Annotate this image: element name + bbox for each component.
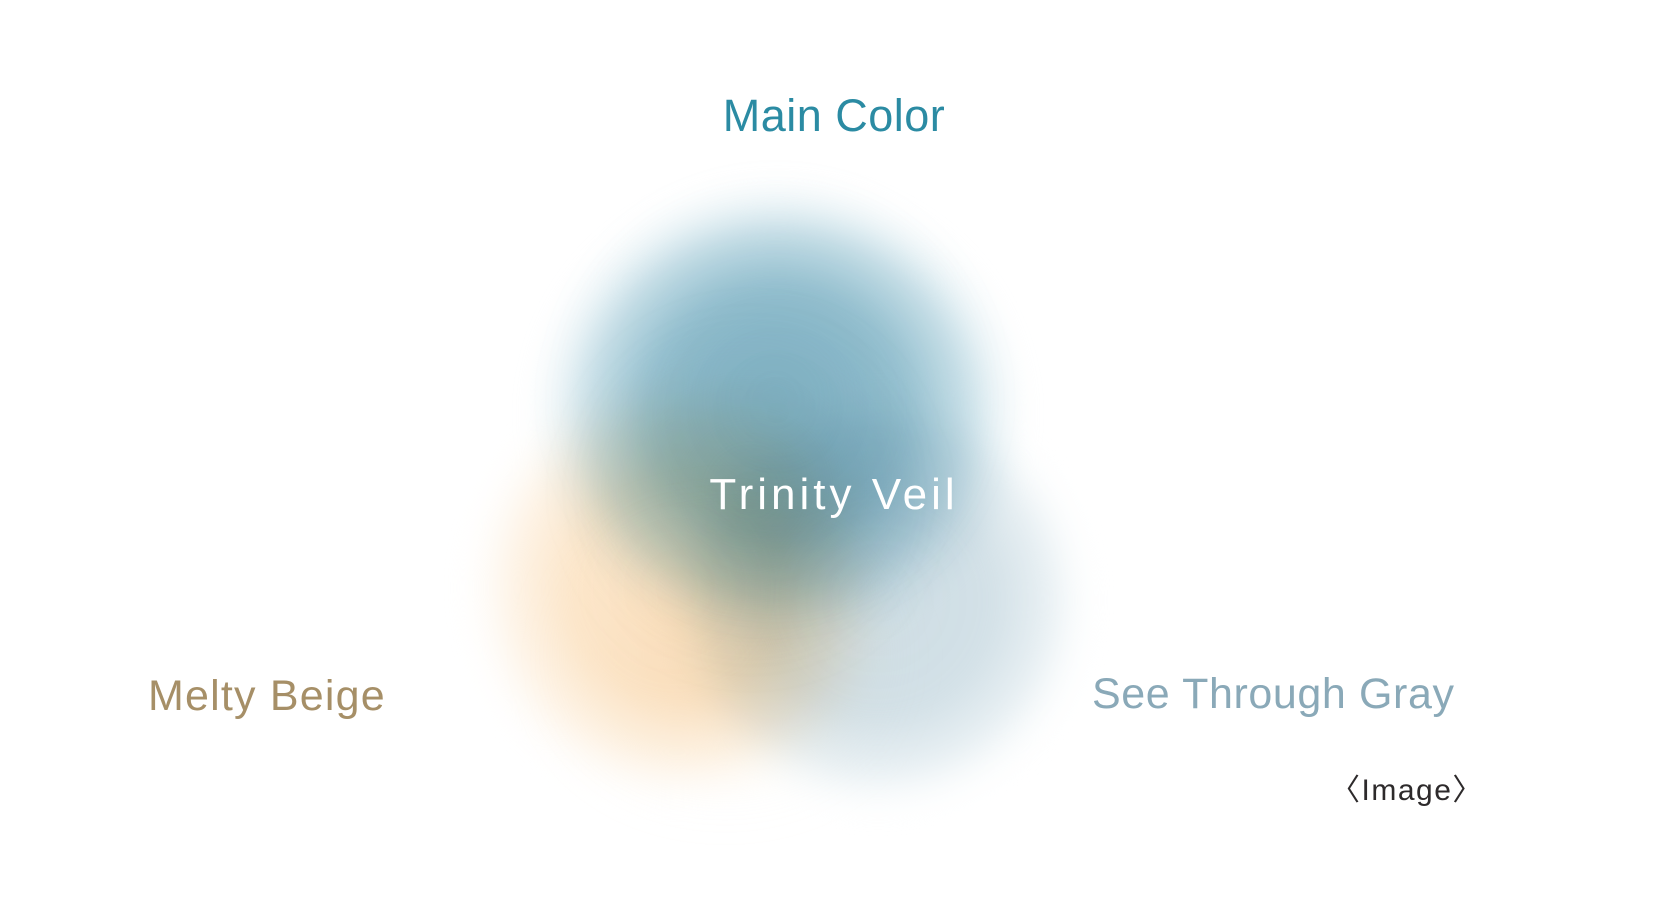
venn-circle-main-color-core [575, 200, 975, 600]
caption-image: 〈Image〉 [1330, 765, 1484, 809]
label-trinity-veil: Trinity Veil [0, 470, 1668, 520]
label-see-through-gray: See Through Gray [1092, 670, 1455, 719]
label-melty-beige: Melty Beige [148, 672, 386, 721]
figure-canvas: Main Color Melty Beige See Through Gray … [0, 0, 1668, 918]
venn-overlap-warm-wash [560, 520, 890, 790]
venn-circle-melty-beige [462, 368, 892, 808]
label-main-color: Main Color [0, 90, 1668, 142]
venn-circle-main-color [528, 178, 1028, 648]
venn-circle-see-through-gray [660, 382, 1096, 818]
